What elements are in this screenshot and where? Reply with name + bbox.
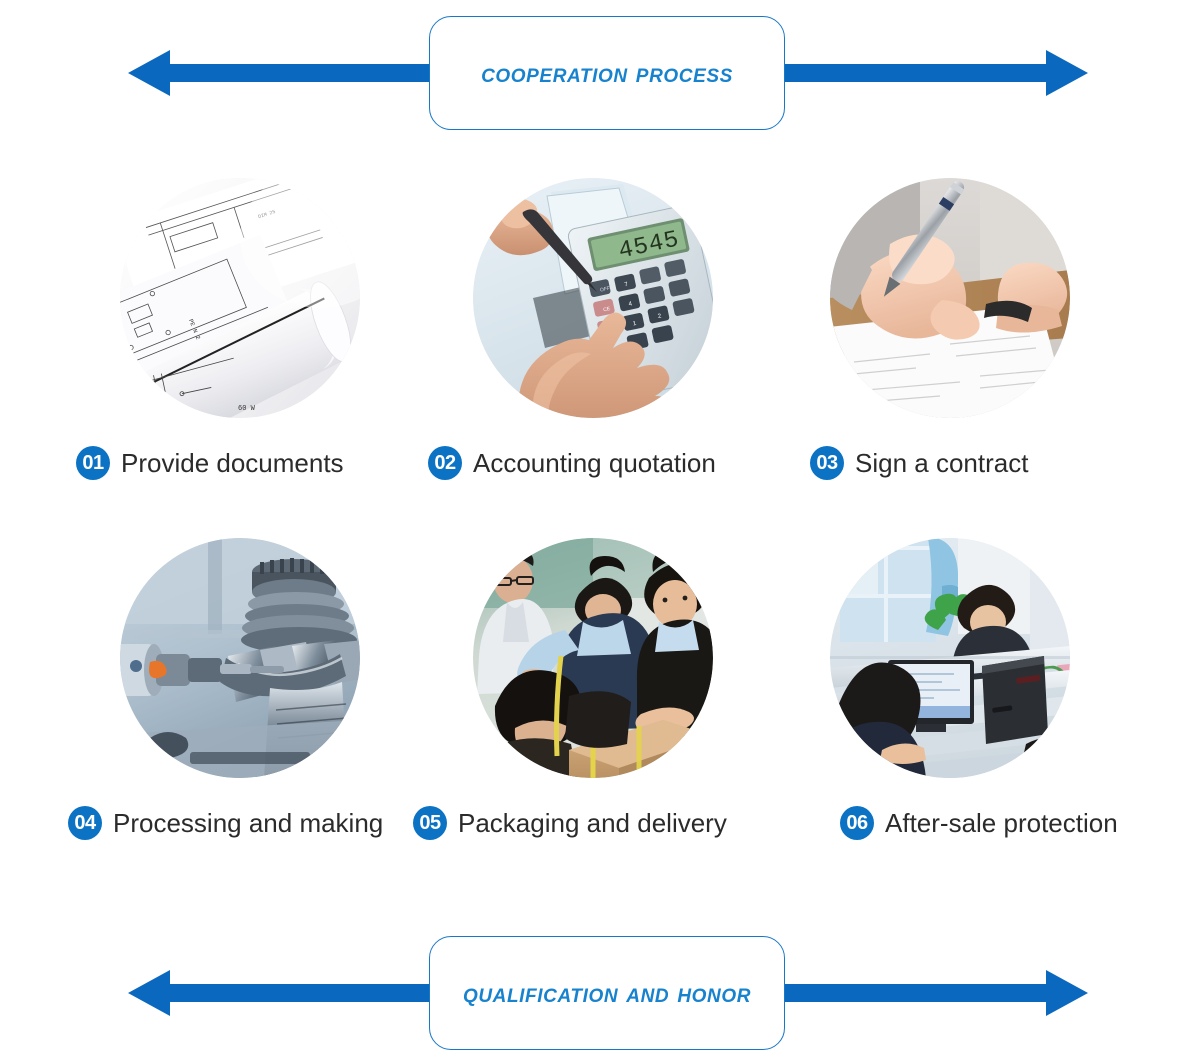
packaging-workers-photo bbox=[473, 538, 713, 778]
signing-contract-photo bbox=[830, 178, 1070, 418]
step-caption-06: 06 After-sale protection bbox=[770, 806, 1200, 840]
step-badge-05: 05 bbox=[413, 806, 447, 840]
step-item-05[interactable]: 05 Packaging and delivery bbox=[413, 538, 773, 898]
step-caption-03: 03 Sign a contract bbox=[770, 446, 1170, 480]
step-label-05: Packaging and delivery bbox=[458, 806, 727, 840]
step-label-01: Provide documents bbox=[121, 446, 344, 480]
step-label-03: Sign a contract bbox=[855, 446, 1028, 480]
arrow-right-icon bbox=[785, 970, 1088, 1016]
step-badge-06: 06 bbox=[840, 806, 874, 840]
step-item-06[interactable]: 06 After-sale protection bbox=[770, 538, 1130, 898]
step-badge-04: 04 bbox=[68, 806, 102, 840]
step-caption-02: 02 Accounting quotation bbox=[413, 446, 788, 480]
step-caption-05: 05 Packaging and delivery bbox=[413, 806, 773, 840]
step-badge-02: 02 bbox=[428, 446, 462, 480]
steps-row-1: DIM 25 bbox=[0, 178, 1200, 538]
svg-text:60 W: 60 W bbox=[238, 405, 256, 413]
calculator-hands-photo: 4545 bbox=[473, 178, 713, 418]
qualification-and-honor-banner: Qualification and honor bbox=[0, 928, 1200, 1058]
banner-title-top: Cooperation process bbox=[481, 58, 733, 89]
arrow-left-icon bbox=[128, 50, 429, 96]
step-item-04[interactable]: 04 Processing and making bbox=[60, 538, 420, 898]
office-support-photo bbox=[830, 538, 1070, 778]
step-caption-04: 04 Processing and making bbox=[60, 806, 428, 840]
steps-row-2: 04 Processing and making bbox=[0, 538, 1200, 898]
step-label-04: Processing and making bbox=[113, 806, 383, 840]
step-item-02[interactable]: 4545 bbox=[413, 178, 773, 538]
banner-title-bottom: Qualification and honor bbox=[463, 978, 751, 1009]
cooperation-process-banner: Cooperation process bbox=[0, 8, 1200, 138]
step-label-06: After-sale protection bbox=[885, 806, 1118, 840]
arrow-left-icon bbox=[128, 970, 429, 1016]
step-item-01[interactable]: DIM 25 bbox=[60, 178, 420, 538]
cnc-machining-photo bbox=[120, 538, 360, 778]
arrow-right-icon bbox=[785, 50, 1088, 96]
step-caption-01: 01 Provide documents bbox=[60, 446, 436, 480]
banner-title-box-top: Cooperation process bbox=[429, 16, 785, 130]
step-item-03[interactable]: 03 Sign a contract bbox=[770, 178, 1130, 538]
svg-text:b1: b1 bbox=[172, 401, 180, 408]
step-badge-03: 03 bbox=[810, 446, 844, 480]
step-label-02: Accounting quotation bbox=[473, 446, 716, 480]
banner-title-box-bottom: Qualification and honor bbox=[429, 936, 785, 1050]
step-badge-01: 01 bbox=[76, 446, 110, 480]
process-steps: DIM 25 bbox=[0, 178, 1200, 898]
rolled-blueprints-photo: DIM 25 bbox=[120, 178, 360, 418]
